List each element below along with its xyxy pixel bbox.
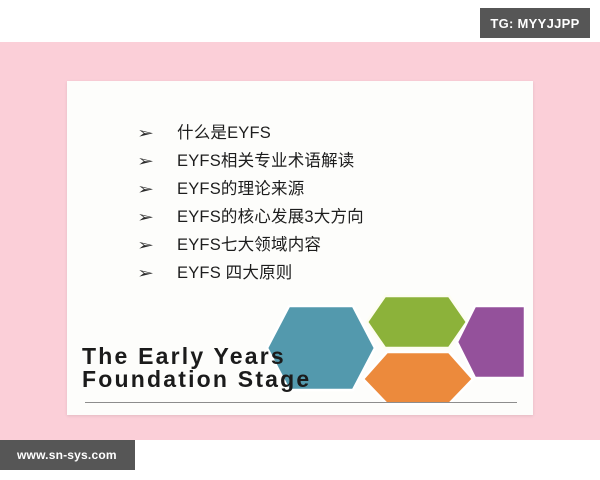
teal-hexagon: [267, 306, 375, 390]
tg-watermark-badge: TG: MYYJJPP: [480, 8, 590, 38]
list-item-label: EYFS 四大原则: [177, 259, 292, 287]
logo-line-1: The Early Years: [82, 343, 286, 369]
list-item-label: 什么是EYFS: [177, 119, 271, 147]
arrow-bullet-icon: ➢: [137, 204, 191, 232]
logo-wordmark: The Early Years Foundation Stage: [82, 345, 311, 391]
list-item-label: EYFS的理论来源: [177, 175, 304, 203]
arrow-bullet-icon: ➢: [137, 176, 191, 204]
green-hexagon: [367, 296, 467, 348]
arrow-bullet-icon: ➢: [137, 232, 191, 260]
arrow-bullet-icon: ➢: [137, 148, 191, 176]
slide-divider-rule: [85, 402, 517, 403]
list-item-label: EYFS的核心发展3大方向: [177, 203, 364, 231]
list-item: ➢ EYFS 四大原则: [137, 259, 517, 287]
purple-hexagon: [457, 306, 525, 378]
site-watermark-badge: www.sn-sys.com: [0, 440, 135, 470]
logo-line-2: Foundation Stage: [82, 368, 311, 391]
arrow-bullet-icon: ➢: [137, 260, 191, 288]
list-item: ➢ EYFS的核心发展3大方向: [137, 203, 517, 231]
presentation-slide: ➢ 什么是EYFS ➢ EYFS相关专业术语解读 ➢ EYFS的理论来源 ➢ E…: [67, 81, 533, 415]
hexagon-cluster-icon: [263, 294, 525, 406]
list-item: ➢ 什么是EYFS: [137, 119, 517, 147]
arrow-bullet-icon: ➢: [137, 120, 191, 148]
list-item-label: EYFS七大领域内容: [177, 231, 321, 259]
bullet-list: ➢ 什么是EYFS ➢ EYFS相关专业术语解读 ➢ EYFS的理论来源 ➢ E…: [137, 119, 517, 287]
list-item-label: EYFS相关专业术语解读: [177, 147, 355, 175]
list-item: ➢ EYFS的理论来源: [137, 175, 517, 203]
list-item: ➢ EYFS相关专业术语解读: [137, 147, 517, 175]
list-item: ➢ EYFS七大领域内容: [137, 231, 517, 259]
orange-hexagon: [363, 352, 473, 404]
